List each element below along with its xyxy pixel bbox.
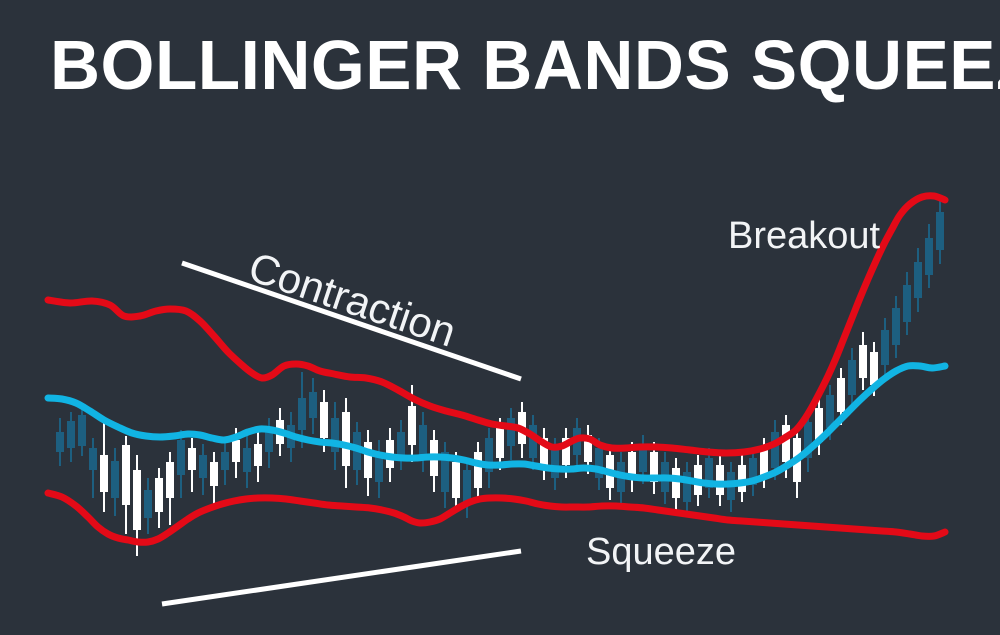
candle-body (397, 432, 405, 458)
candle-body (771, 432, 779, 468)
candle-body (881, 330, 889, 365)
candle-body (111, 461, 119, 498)
candle-body (452, 462, 460, 498)
candle-body (419, 425, 427, 458)
candle-body (892, 308, 900, 345)
candle-body (738, 465, 746, 492)
candle-body (914, 262, 922, 298)
band-line (48, 493, 945, 542)
candle-body (859, 345, 867, 378)
candle-body (672, 468, 680, 498)
candle-body (155, 478, 163, 512)
candle-body (243, 448, 251, 472)
candle-body (837, 378, 845, 412)
candle-body (78, 415, 86, 446)
trend-guide-line (162, 551, 521, 604)
candle-body (144, 490, 152, 518)
annotation-breakout: Breakout (728, 215, 880, 258)
candle-body (925, 238, 933, 275)
candle-body (122, 445, 130, 505)
candle-body (870, 352, 878, 385)
candle-body (474, 452, 482, 488)
bollinger-bands-infographic: BOLLINGER BANDS SQUEEZE Contraction Brea… (0, 0, 1000, 635)
candle-body (551, 448, 559, 478)
annotation-squeeze: Squeeze (586, 531, 736, 574)
candle-body (848, 360, 856, 395)
candle-body (133, 470, 141, 530)
candle-body (100, 455, 108, 492)
candle-body (199, 455, 207, 478)
candle-body (177, 440, 185, 475)
candle-body (496, 428, 504, 458)
candle-body (408, 406, 416, 445)
candle-body (166, 462, 174, 498)
candle-body (320, 402, 328, 438)
candle-body (67, 421, 75, 448)
candle-body (89, 448, 97, 470)
candle-body (210, 462, 218, 486)
candle-body (364, 442, 372, 478)
candle-body (56, 432, 64, 452)
bollinger-bands-chart (0, 0, 1000, 635)
candle-body (463, 470, 471, 502)
candle-body (188, 448, 196, 470)
candle-body (782, 425, 790, 462)
candle-body (309, 392, 317, 418)
candle-body (507, 418, 515, 446)
candle-body (232, 440, 240, 462)
candle-body (254, 444, 262, 466)
candle-body (716, 465, 724, 495)
candle-body (903, 285, 911, 322)
candle-body (221, 452, 229, 470)
candle-body (298, 398, 306, 430)
candle-body (936, 212, 944, 250)
candle-body (342, 412, 350, 466)
